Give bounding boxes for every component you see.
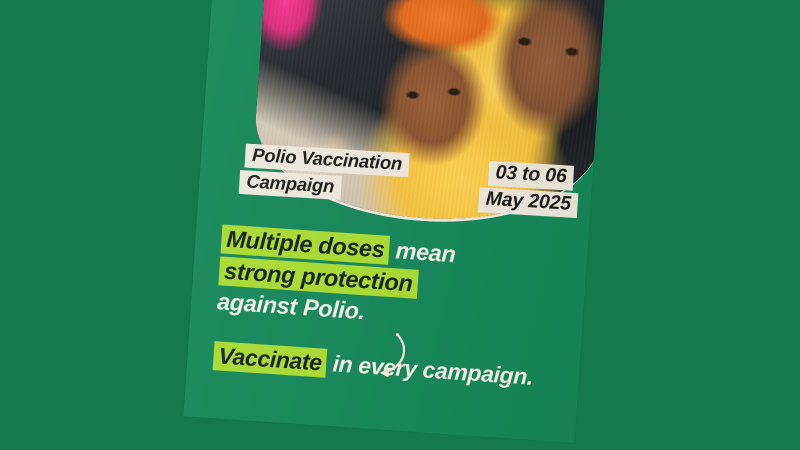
campaign-message: Multiple doses mean strong protection ag… xyxy=(212,224,571,395)
message-line-4: Vaccinate in every campaign. xyxy=(213,341,564,394)
message-line-4-highlight: Vaccinate xyxy=(213,341,328,378)
poster-card: Polio Vaccination Campaign 03 to 06 May … xyxy=(183,0,607,443)
poster-stage: Polio Vaccination Campaign 03 to 06 May … xyxy=(0,0,800,450)
message-line-1-rest: mean xyxy=(395,237,457,267)
message-line-4-rest: in every campaign. xyxy=(332,350,534,390)
campaign-date-line-1: 03 to 06 xyxy=(488,161,574,191)
